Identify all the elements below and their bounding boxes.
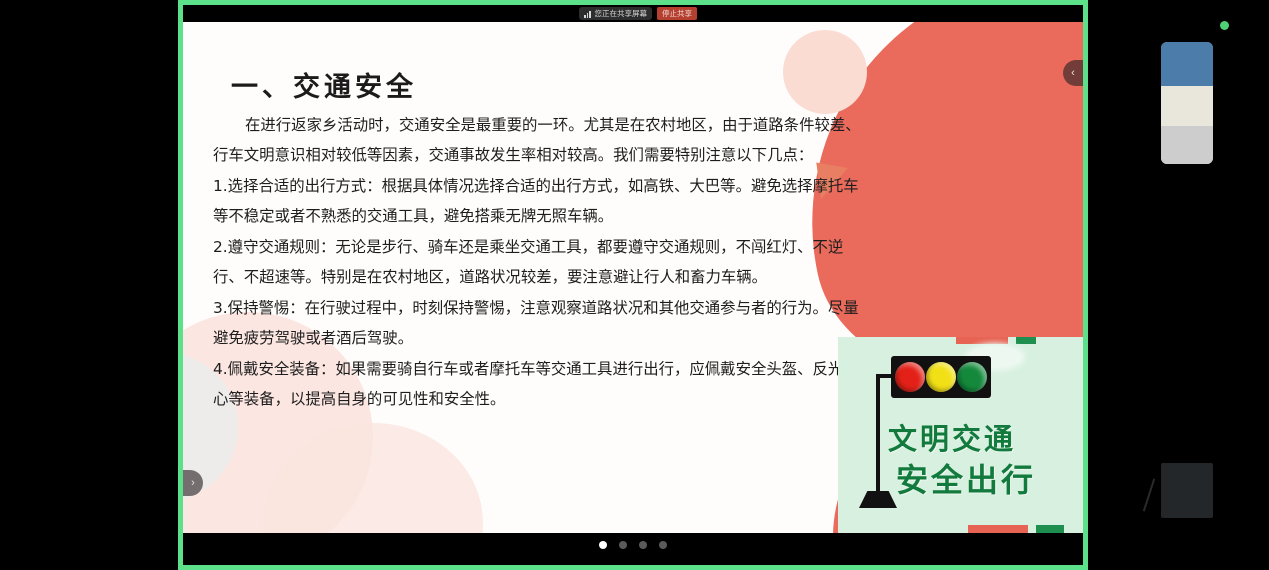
decorative-peach-circle bbox=[783, 30, 867, 114]
decorative-streak bbox=[1143, 479, 1155, 512]
participant-video-tile[interactable] bbox=[1161, 463, 1213, 518]
self-video-tile[interactable] bbox=[1161, 42, 1213, 164]
stop-share-button[interactable]: 停止共享 bbox=[657, 7, 697, 20]
video-band-bottom bbox=[1161, 126, 1213, 164]
red-lamp-icon bbox=[895, 362, 925, 392]
traffic-light-base bbox=[859, 491, 897, 508]
card-accent-green-top bbox=[1016, 337, 1036, 344]
video-band-top bbox=[1161, 42, 1213, 86]
next-slide-button[interactable]: ‹ bbox=[1063, 60, 1083, 86]
share-status-toolbar: 您正在共享屏幕 停止共享 bbox=[183, 5, 1088, 22]
traffic-light-icon bbox=[891, 356, 991, 398]
video-band-middle bbox=[1161, 86, 1213, 126]
slide-paragraph: 3.保持警惕：在行驶过程中，时刻保持警惕，注意观察道路状况和其他交通参与者的行为… bbox=[213, 293, 868, 353]
online-status-dot bbox=[1220, 21, 1229, 30]
slide-paragraph: 在进行返家乡活动时，交通安全是最重要的一环。尤其是在农村地区，由于道路条件较差、… bbox=[213, 110, 868, 170]
card-accent-green-bottom bbox=[1036, 525, 1064, 533]
slide-title: 一、交通安全 bbox=[231, 65, 417, 104]
traffic-light-pole bbox=[876, 374, 880, 504]
pagination-dot[interactable] bbox=[659, 541, 667, 549]
traffic-safety-illustration: 文明交通 安全出行 bbox=[838, 337, 1083, 533]
slide-paragraph: 2.遵守交通规则：无论是步行、骑车还是乘坐交通工具，都要遵守交通规则，不闯红灯、… bbox=[213, 232, 868, 292]
slide-canvas: 一、交通安全 在进行返家乡活动时，交通安全是最重要的一环。尤其是在农村地区，由于… bbox=[183, 22, 1083, 533]
slide-paragraph: 4.佩戴安全装备：如果需要骑自行车或者摩托车等交通工具进行出行，应佩戴安全头盔、… bbox=[213, 354, 868, 414]
slide-pagination bbox=[183, 533, 1083, 570]
yellow-lamp-icon bbox=[926, 362, 956, 392]
pagination-dot[interactable] bbox=[619, 541, 627, 549]
illustration-line-2: 安全出行 bbox=[896, 455, 1036, 501]
slide-body-text: 在进行返家乡活动时，交通安全是最重要的一环。尤其是在农村地区，由于道路条件较差、… bbox=[213, 110, 868, 415]
slide-stage[interactable]: 一、交通安全 在进行返家乡活动时，交通安全是最重要的一环。尤其是在农村地区，由于… bbox=[183, 22, 1083, 533]
screen-share-meeting-window: 您正在共享屏幕 停止共享 一、交通安全 在进行返家乡活动时，交通安全是最重要的一… bbox=[0, 0, 1269, 570]
pagination-dot[interactable] bbox=[639, 541, 647, 549]
pagination-dot[interactable] bbox=[599, 541, 607, 549]
participant-rail bbox=[1088, 0, 1269, 570]
card-accent-red-bottom bbox=[968, 525, 1028, 533]
illustration-line-1: 文明交通 bbox=[888, 416, 1016, 458]
signal-bars-icon bbox=[584, 10, 591, 18]
shared-screen-frame: 您正在共享屏幕 停止共享 一、交通安全 在进行返家乡活动时，交通安全是最重要的一… bbox=[178, 0, 1088, 570]
slide-paragraph: 1.选择合适的出行方式：根据具体情况选择合适的出行方式，如高铁、大巴等。避免选择… bbox=[213, 171, 868, 231]
share-status-pill: 您正在共享屏幕 bbox=[579, 7, 652, 20]
share-status-text: 您正在共享屏幕 bbox=[595, 9, 648, 18]
green-lamp-icon bbox=[957, 362, 987, 392]
